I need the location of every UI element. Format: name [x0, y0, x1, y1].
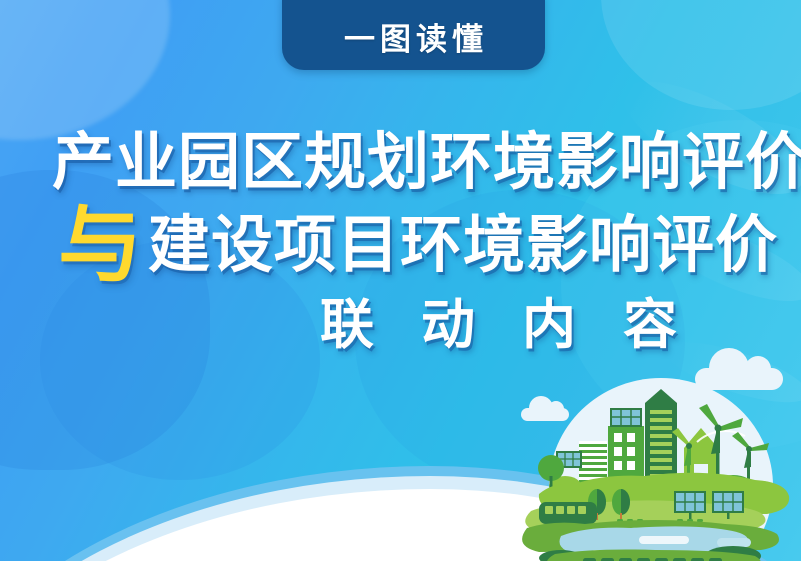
lake-highlight-3 — [717, 538, 751, 547]
title-conjunction-character: 与 — [58, 210, 142, 281]
eco-city-illustration — [521, 356, 791, 561]
infographic-poster: 一图读懂 产业园区规划环境影响评价 与 建设项目环境影响评价 联 动 内 容 — [0, 0, 801, 561]
title-line-3: 联 动 内 容 — [320, 298, 693, 352]
background-cloud-blob-top-right — [601, 0, 801, 110]
title-line-2-row: 与 建设项目环境影响评价 — [58, 210, 778, 281]
background-cloud-blob-top-left — [0, 0, 170, 140]
lake-highlight-1 — [639, 536, 689, 544]
solar-panel-roof — [611, 409, 641, 426]
banner-tab: 一图读懂 — [282, 0, 545, 70]
banner-tab-label: 一图读懂 — [339, 6, 488, 59]
title-line-1: 产业园区规划环境影响评价 — [52, 132, 801, 194]
title-line-2: 建设项目环境影响评价 — [148, 215, 778, 281]
